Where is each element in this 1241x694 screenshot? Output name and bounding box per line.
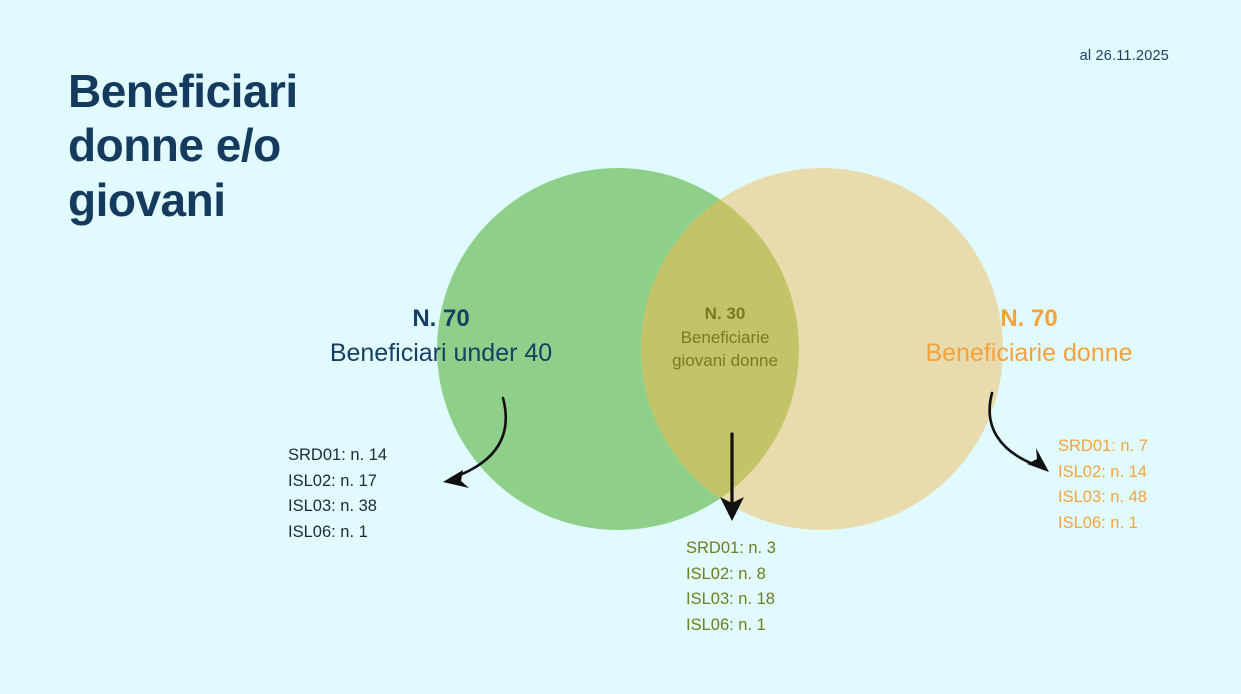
venn-left-count: N. 70 <box>296 303 586 334</box>
straight-arrow-down-icon <box>720 434 744 521</box>
venn-right-count: N. 70 <box>903 303 1155 334</box>
list-item: SRD01: n. 14 <box>288 443 387 469</box>
list-item: ISL02: n. 8 <box>686 562 776 588</box>
list-item: ISL02: n. 14 <box>1058 460 1148 486</box>
list-item: ISL03: n. 48 <box>1058 485 1148 511</box>
venn-right-caption: Beneficiarie donne <box>903 337 1155 370</box>
list-item: SRD01: n. 3 <box>686 536 776 562</box>
list-item: ISL03: n. 18 <box>686 587 776 613</box>
page-title: Beneficiari donne e/o giovani <box>68 64 398 227</box>
list-item: SRD01: n. 7 <box>1058 434 1148 460</box>
list-item: ISL06: n. 1 <box>288 520 387 546</box>
breakdown-list-center: SRD01: n. 3 ISL02: n. 8 ISL03: n. 18 ISL… <box>686 536 776 639</box>
venn-label-right: N. 70 Beneficiarie donne <box>903 303 1155 370</box>
venn-left-caption: Beneficiari under 40 <box>296 337 586 370</box>
curved-arrow-down-right-icon <box>990 393 1049 472</box>
date-stamp: al 26.11.2025 <box>1080 48 1169 64</box>
list-item: ISL02: n. 17 <box>288 469 387 495</box>
venn-label-center: N. 30 Beneficiarie giovani donne <box>652 303 798 373</box>
list-item: ISL06: n. 1 <box>686 613 776 639</box>
list-item: ISL03: n. 38 <box>288 494 387 520</box>
venn-center-caption: Beneficiarie giovani donne <box>652 327 798 373</box>
slide-canvas: Beneficiari donne e/o giovani al 26.11.2… <box>0 0 1241 694</box>
venn-label-left: N. 70 Beneficiari under 40 <box>296 303 586 370</box>
breakdown-list-right: SRD01: n. 7 ISL02: n. 14 ISL03: n. 48 IS… <box>1058 434 1148 537</box>
venn-center-count: N. 30 <box>652 303 798 325</box>
curved-arrow-down-left-icon <box>443 398 506 488</box>
list-item: ISL06: n. 1 <box>1058 511 1148 537</box>
breakdown-list-left: SRD01: n. 14 ISL02: n. 17 ISL03: n. 38 I… <box>288 443 387 546</box>
